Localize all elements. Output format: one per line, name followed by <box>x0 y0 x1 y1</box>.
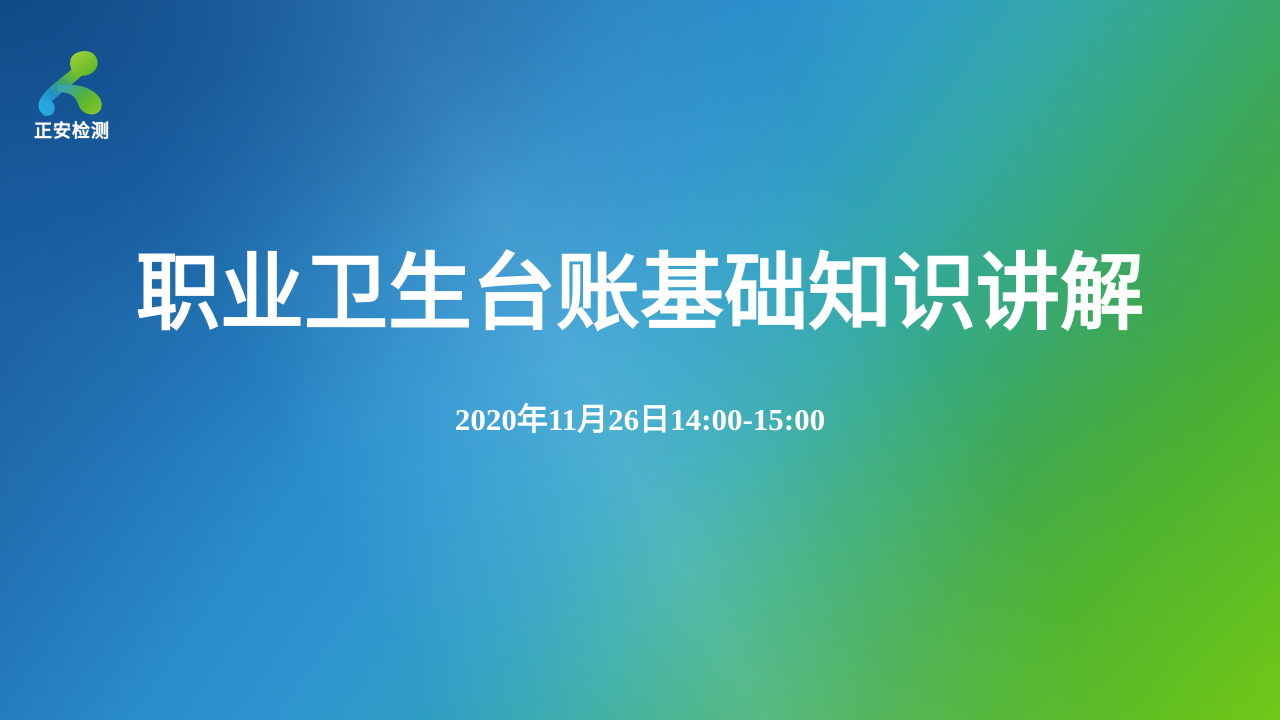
zhengan-swoosh-logo-icon <box>34 48 110 118</box>
company-logo: 正安检测 <box>12 48 132 148</box>
title-slide: 正安检测 职业卫生台账基础知识讲解 2020年11月26日14:00-15:00 <box>0 0 1280 720</box>
logo-wordmark: 正安检测 <box>34 122 110 140</box>
slide-subtitle-datetime: 2020年11月26日14:00-15:00 <box>0 401 1280 438</box>
title-block: 职业卫生台账基础知识讲解 2020年11月26日14:00-15:00 <box>0 250 1280 438</box>
logo-head-dot <box>70 51 98 76</box>
slide-title: 职业卫生台账基础知识讲解 <box>0 250 1280 339</box>
logo-right-arm <box>57 85 102 115</box>
